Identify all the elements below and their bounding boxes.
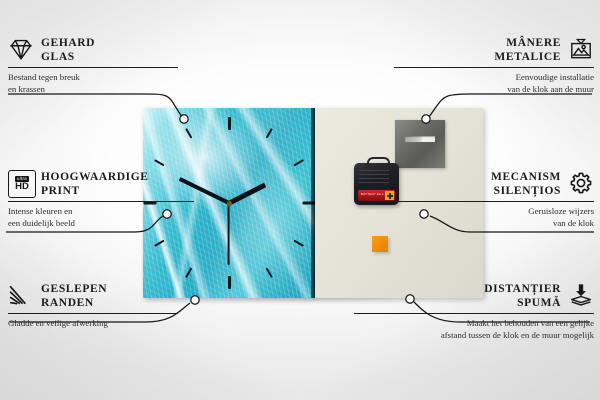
- callout-header: DISTANȚIER SPUMĂ: [354, 282, 594, 310]
- gear-icon: [568, 170, 594, 196]
- clock-tick: [266, 128, 273, 139]
- callout-title: HOOGWAARDIGE PRINT: [41, 170, 149, 198]
- callout-geslepen-randen: GESLEPEN RANDEN Gladde en veilige afwerk…: [8, 282, 184, 330]
- battery: BATTERY AA 1.5V: [358, 190, 395, 201]
- framed-picture-icon: [568, 36, 594, 62]
- callout-header: MÂNERE METALICE: [394, 36, 594, 64]
- clock-tick: [228, 276, 231, 289]
- callout-subtitle: Bestand tegen breuk en krassen: [8, 72, 184, 96]
- clock-tick: [154, 159, 165, 166]
- foam-spacer: [372, 236, 388, 252]
- callout-divider: [354, 313, 594, 314]
- infographic-canvas: BATTERY AA 1.5V: [0, 0, 600, 400]
- hanger-slot: [405, 136, 435, 142]
- callout-divider: [8, 67, 178, 68]
- callout-title: MÂNERE METALICE: [394, 36, 561, 64]
- callout-title: GEHARD GLAS: [41, 36, 95, 64]
- clock-hour-hand: [228, 183, 266, 206]
- clock-tick: [266, 267, 273, 278]
- press-down-layers-icon: [568, 282, 594, 308]
- callout-title: MECANISM SILENȚIOS: [394, 170, 561, 198]
- beveled-edges-icon: [8, 282, 34, 308]
- callout-title: GESLEPEN RANDEN: [41, 282, 107, 310]
- clock-second-hand: [228, 203, 230, 265]
- clock-tick: [228, 117, 231, 130]
- callout-manere-metalice: MÂNERE METALICE Eenvoudige installatie v…: [394, 36, 594, 96]
- clock-tick: [185, 267, 192, 278]
- callout-mecanism-silentios: MECANISM SILENȚIOS Geruisloze wijzers va…: [394, 170, 594, 230]
- callout-divider: [394, 201, 594, 202]
- callout-subtitle: Geruisloze wijzers van de klok: [394, 206, 594, 230]
- callout-header: MECANISM SILENȚIOS: [394, 170, 594, 198]
- hd-badge-bottom: HD: [15, 182, 29, 192]
- callout-subtitle: Maakt het behouden van een gelijke afsta…: [354, 318, 594, 342]
- callout-divider: [8, 313, 178, 314]
- ultra-hd-icon: ultra HD: [8, 170, 34, 196]
- callout-subtitle: Eenvoudige installatie van de klok aan d…: [394, 72, 594, 96]
- battery-plus-terminal: [385, 191, 394, 200]
- clock-tick: [293, 159, 304, 166]
- callout-header: ultra HD HOOGWAARDIGE PRINT: [8, 170, 198, 198]
- callout-subtitle: Gladde en veilige afwerking: [8, 318, 184, 330]
- clock-tick: [293, 240, 304, 247]
- callout-hoogwaardige-print: ultra HD HOOGWAARDIGE PRINT Intense kleu…: [8, 170, 198, 230]
- callout-header: GESLEPEN RANDEN: [8, 282, 184, 310]
- clock-mechanism: BATTERY AA 1.5V: [354, 163, 399, 205]
- clock-center-cap: [227, 201, 232, 206]
- metal-hanger-plate: [395, 120, 445, 168]
- callout-distantier-spuma: DISTANȚIER SPUMĂ Maakt het behouden van …: [354, 282, 594, 342]
- callout-divider: [8, 201, 194, 202]
- clock-tick: [154, 240, 165, 247]
- mechanism-hanger-loop: [367, 157, 390, 168]
- callout-divider: [394, 67, 594, 68]
- callout-subtitle: Intense kleuren en een duidelijk beeld: [8, 206, 198, 230]
- diamond-icon: [8, 36, 34, 62]
- callout-title: DISTANȚIER SPUMĂ: [354, 282, 561, 310]
- mechanism-vents: [359, 170, 389, 184]
- callout-header: GEHARD GLAS: [8, 36, 184, 64]
- callout-gehard-glas: GEHARD GLAS Bestand tegen breuk en krass…: [8, 36, 184, 96]
- clock-tick: [185, 128, 192, 139]
